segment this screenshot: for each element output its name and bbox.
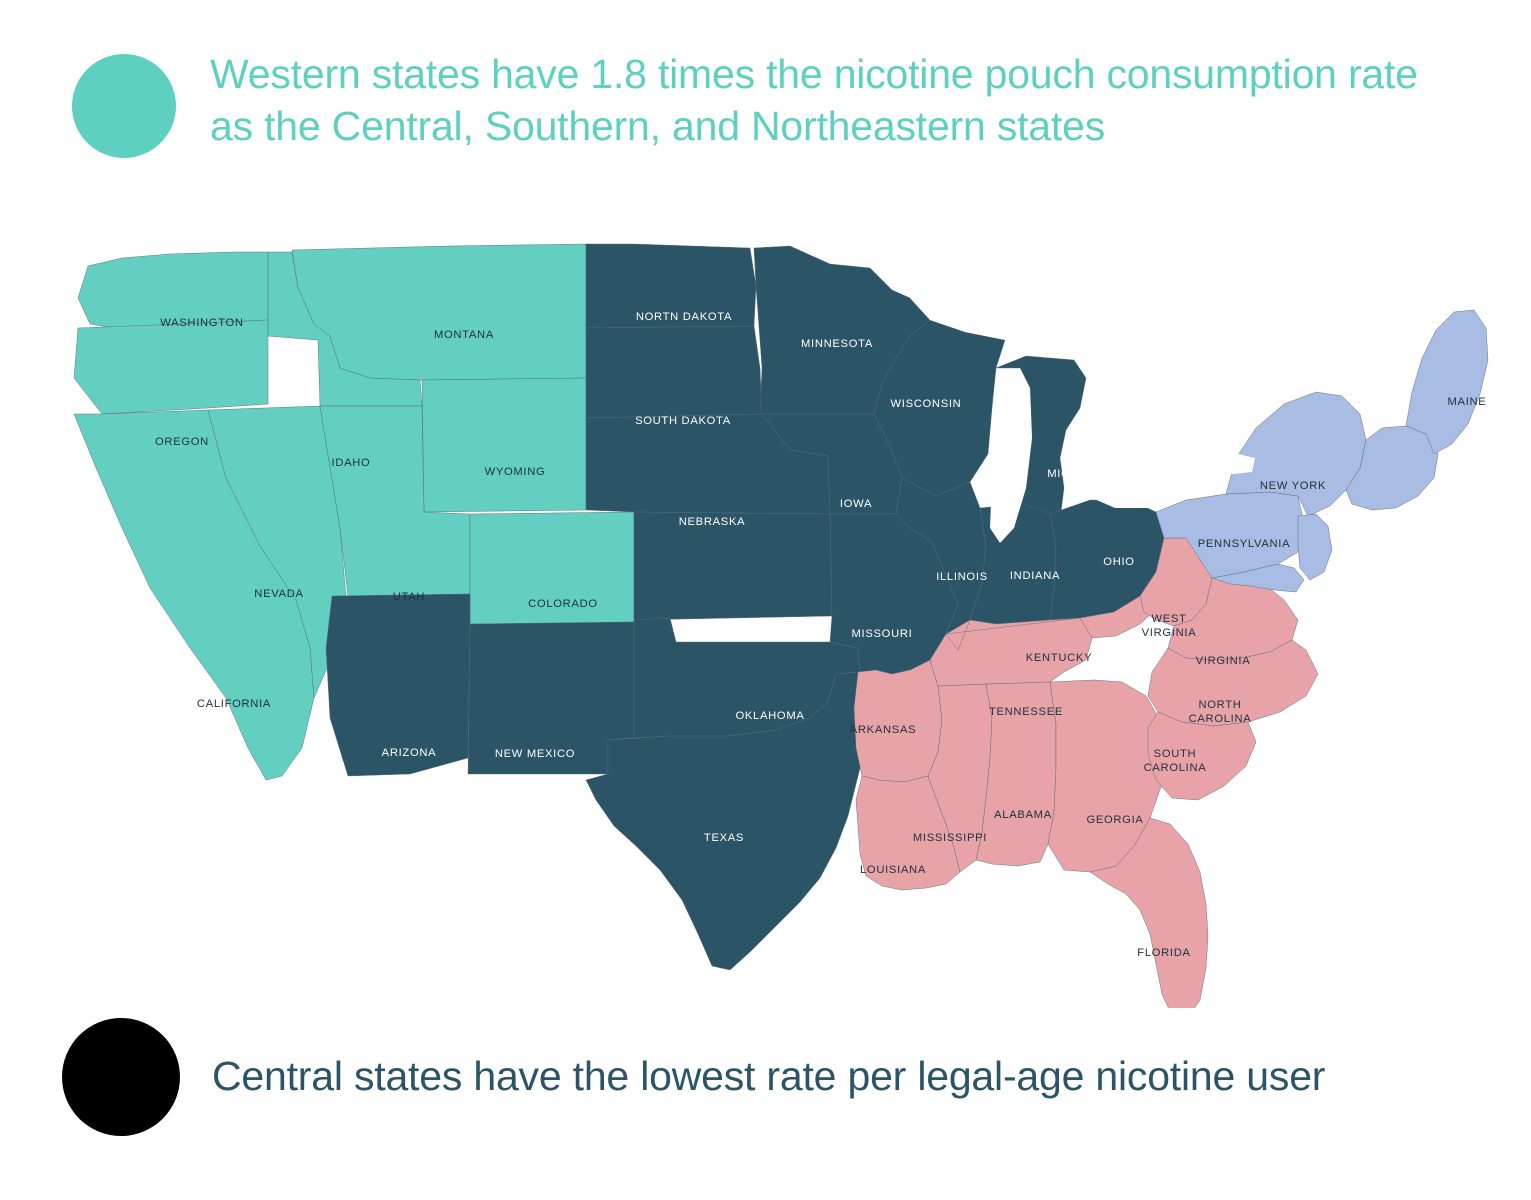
- state-shape-sc: [1148, 712, 1256, 800]
- state-shape-or: [74, 320, 268, 414]
- state-shape-sd: [586, 326, 762, 418]
- state-shape-nj: [1298, 514, 1332, 580]
- us-map-svg: WASHINGTONMONTANANORTN DAKOTAMINNESOTAOR…: [30, 228, 1500, 1008]
- state-shape-ar: [854, 660, 942, 782]
- state-shape-nd: [586, 244, 756, 328]
- state-shape-ks: [634, 512, 832, 620]
- lake-erie-shape: [1092, 480, 1190, 508]
- state-shapes-group: [74, 244, 1488, 1008]
- state-shape-co: [470, 512, 634, 624]
- state-shape-wy: [422, 378, 586, 512]
- bottom-headline: Central states have the lowest rate per …: [212, 1052, 1325, 1101]
- lake-ontario-shape: [1188, 452, 1255, 476]
- state-label-kansas: KANSAS: [717, 617, 767, 629]
- state-shape-az: [326, 594, 470, 776]
- lake-huron-shape: [1085, 354, 1140, 443]
- us-region-map: WASHINGTONMONTANANORTN DAKOTAMINNESOTAOR…: [30, 228, 1500, 1008]
- teal-bullet-dot: [72, 54, 176, 158]
- top-callout: Western states have 1.8 times the nicoti…: [72, 48, 1472, 158]
- state-shape-wa: [78, 252, 268, 328]
- black-bullet-dot: [62, 1018, 180, 1136]
- top-headline: Western states have 1.8 times the nicoti…: [210, 48, 1460, 153]
- bottom-callout: Central states have the lowest rate per …: [62, 1018, 1482, 1136]
